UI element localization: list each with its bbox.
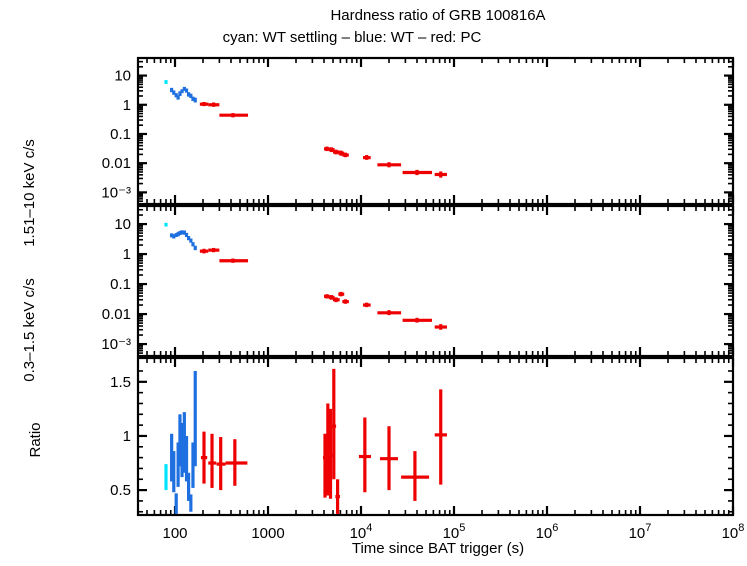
y-tick-label: 10⁻³ [101,336,131,353]
series-wt-settling [165,80,168,84]
series-wt-settling [165,464,168,490]
data-point [192,442,194,487]
data-point [177,95,179,99]
data-point [165,80,168,84]
legend-subtitle: cyan: WT settling – blue: WT – red: PC [223,29,482,46]
x-tick-label: 1000 [251,525,284,542]
data-point [188,473,190,501]
y-axis-label-top: 1.51–10 keV c/s [21,139,38,247]
y-tick-label: 1 [123,97,131,114]
y-tick-label: 1 [123,428,131,445]
data-point [208,248,219,252]
data-point [165,223,168,227]
y-tick-label: 10⁻³ [101,184,131,201]
data-point [181,230,183,234]
hardness-ratio-plot: Hardness ratio of GRB 100816A cyan: WT s… [0,0,747,566]
y-tick-label: 1.5 [110,374,131,391]
data-point [190,494,192,511]
data-point [181,423,182,477]
data-point [173,451,175,492]
y-axis-label-middle: 0.3–1.5 keV c/s [21,278,38,381]
data-point [329,409,333,499]
chart-canvas: Hardness ratio of GRB 100816A cyan: WT s… [0,0,747,566]
data-point [175,493,177,514]
data-point [181,89,183,93]
x-axis-label: Time since BAT trigger (s) [352,540,524,557]
y-axis-label-bottom: Ratio [27,422,44,457]
data-point [194,98,196,103]
data-point [194,371,196,466]
y-tick-label: 10 [114,68,131,85]
data-point [200,102,208,106]
data-point [186,89,188,93]
data-point [219,259,248,263]
y-tick-label: 0.1 [110,276,131,293]
series-wt-settling [165,223,168,227]
data-point [190,239,192,243]
y-tick-label: 0.01 [102,155,131,172]
x-tick-label: 100 [162,525,187,542]
y-tick-label: 1 [123,246,131,263]
data-point [165,464,168,490]
y-tick-label: 0.01 [102,306,131,323]
y-tick-label: 0.5 [110,482,131,499]
page-title: Hardness ratio of GRB 100816A [330,7,545,24]
data-point [219,113,248,117]
data-point [194,246,196,250]
y-tick-label: 0.1 [110,126,131,143]
y-tick-label: 10 [114,216,131,233]
